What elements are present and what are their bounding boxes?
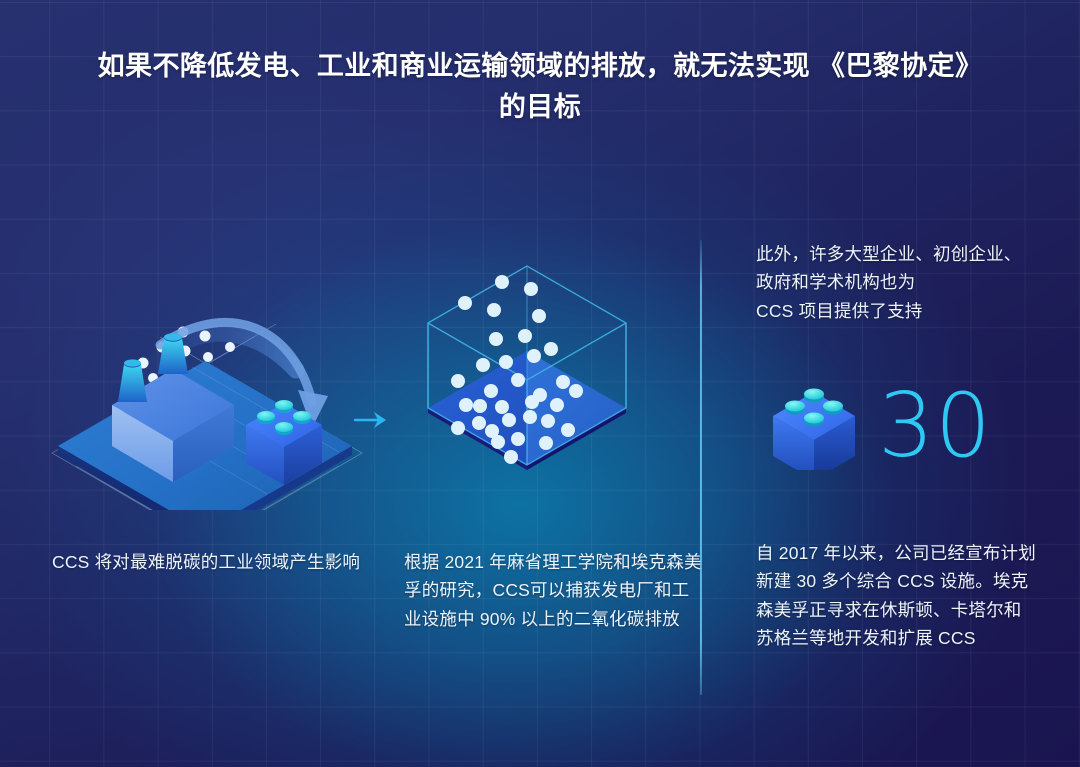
factory-illustration [40, 250, 370, 515]
slide-canvas: 如果不降低发电、工业和商业运输领域的排放，就无法实现 《巴黎协定》的目标 [0, 0, 1080, 767]
storage-block-icon [768, 378, 860, 475]
page-title: 如果不降低发电、工业和商业运输领域的排放，就无法实现 《巴黎协定》的目标 [90, 46, 990, 128]
carbon-cube-illustration [420, 265, 635, 500]
cube-wireframe [428, 266, 626, 465]
flow-arrow-icon [352, 406, 392, 439]
stat-row: 30 [768, 378, 992, 475]
middle-caption: 根据 2021 年麻省理工学院和埃克森美孚的研究，CCS可以捕获发电厂和工业设施… [404, 548, 704, 633]
right-top-caption: 此外，许多大型企业、初创企业、政府和学术机构也为 CCS 项目提供了支持 [756, 240, 1034, 325]
right-bottom-caption: 自 2017 年以来，公司已经宣布计划新建 30 多个综合 CCS 设施。埃克森… [756, 539, 1036, 652]
left-caption: CCS 将对最难脱碳的工业领域产生影响 [52, 548, 382, 576]
stat-value: 30 [878, 386, 992, 467]
